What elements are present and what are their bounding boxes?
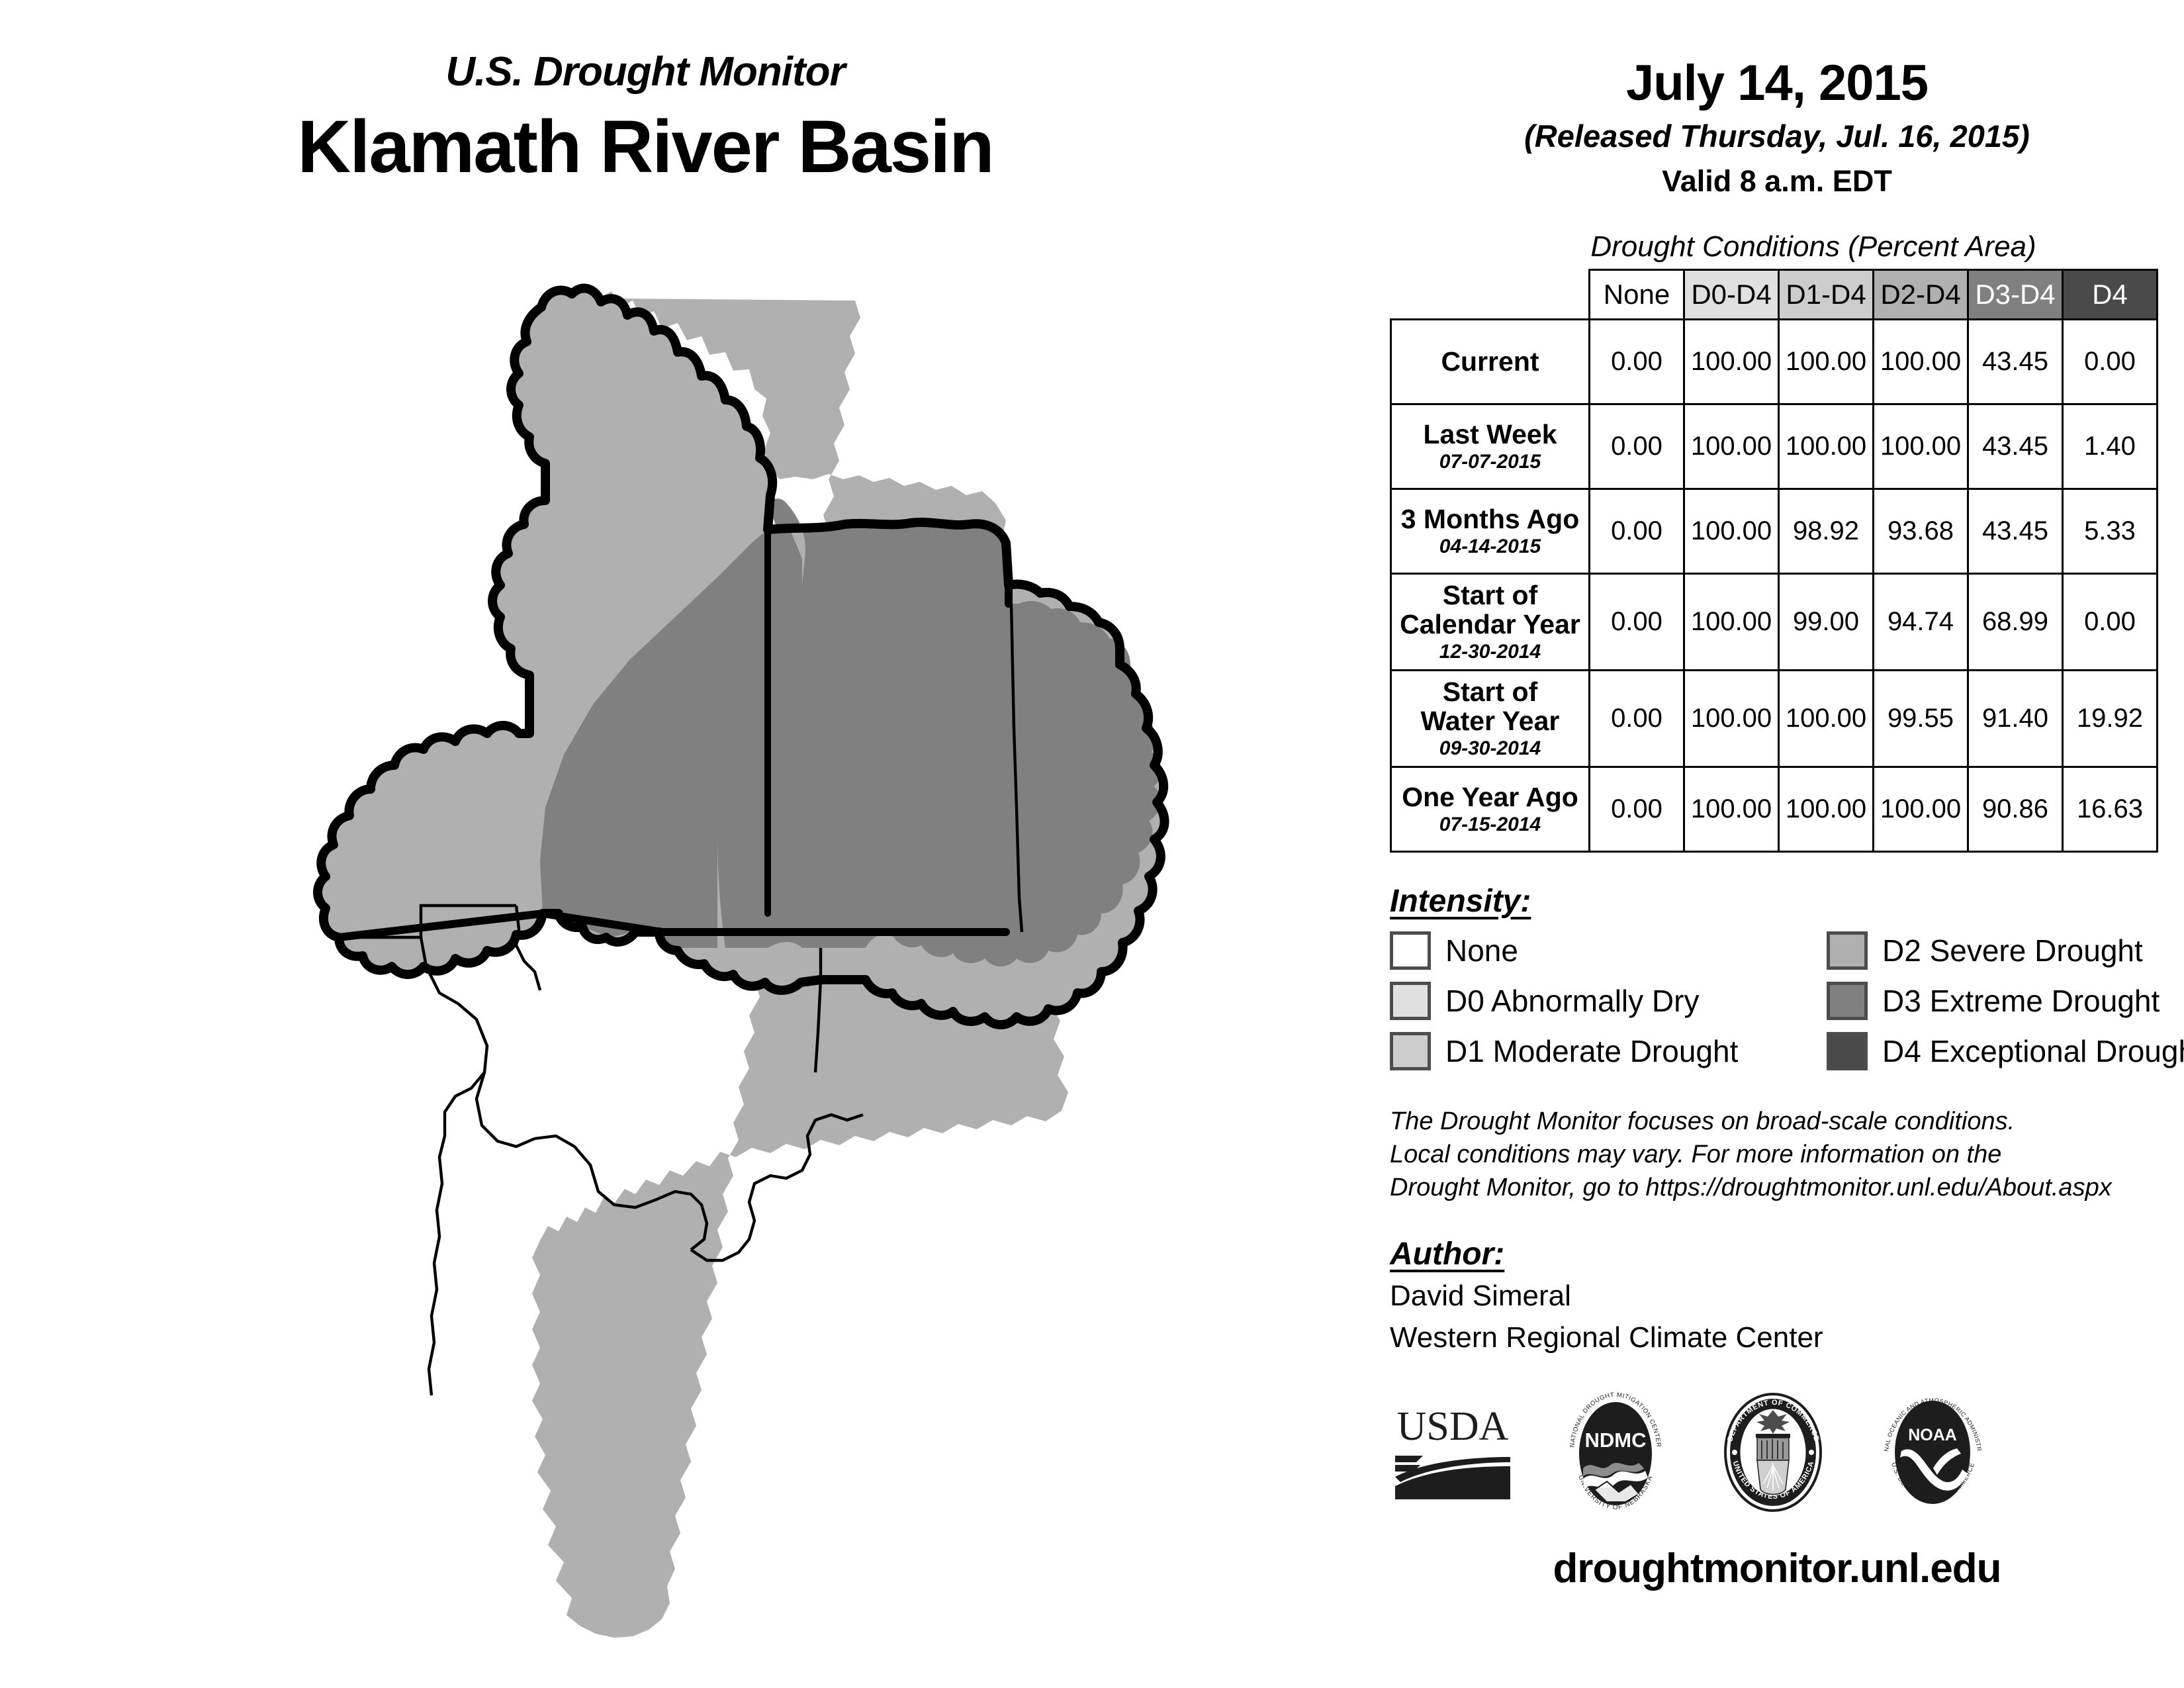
intensity-heading: Intensity: — [1390, 883, 2184, 919]
legend-item-none[interactable]: None — [1390, 931, 1827, 970]
svg-text:NDMC: NDMC — [1585, 1429, 1647, 1452]
legend-item-d0[interactable]: D0 Abnormally Dry — [1390, 982, 1827, 1020]
noaa-logo-icon: NATIONAL OCEANIC AND ATMOSPHERIC ADMINIS… — [1875, 1390, 1991, 1513]
klamath-river-basin-drought-map[interactable] — [79, 278, 1324, 1642]
row-label-date: 07-15-2014 — [1392, 814, 1588, 835]
legend-label-d2: D2 Severe Drought — [1882, 935, 2143, 966]
table-corner-cell — [1391, 270, 1590, 320]
column-header-none: None — [1590, 270, 1684, 320]
disclaimer-line-1: The Drought Monitor focuses on broad-sca… — [1390, 1105, 2184, 1138]
cell-start-water-year-d2d4: 99.55 — [1874, 671, 1968, 767]
legend-label-d3: D3 Extreme Drought — [1882, 986, 2160, 1016]
cell-start-water-year-none: 0.00 — [1590, 671, 1684, 767]
table-header-row: None D0-D4 D1-D4 D2-D4 D3-D4 D4 — [1391, 270, 2158, 320]
map-date: July 14, 2015 — [1370, 58, 2184, 109]
cell-start-water-year-d0d4: 100.00 — [1684, 671, 1779, 767]
row-label-last-week: Last Week 07-07-2015 — [1391, 404, 1590, 489]
column-header-d3d4: D3-D4 — [1968, 270, 2063, 320]
legend-item-d2[interactable]: D2 Severe Drought — [1827, 931, 2184, 970]
swatch-d2-icon — [1827, 931, 1868, 970]
noaa-logo[interactable]: NATIONAL OCEANIC AND ATMOSPHERIC ADMINIS… — [1875, 1390, 1991, 1516]
row-label-text: One Year Ago — [1392, 783, 1588, 812]
cell-one-year-ago-d0d4: 100.00 — [1684, 767, 1779, 852]
disclaimer-line-3[interactable]: Drought Monitor, go to https://droughtmo… — [1390, 1171, 2184, 1204]
cell-current-d2d4: 100.00 — [1874, 320, 1968, 404]
site-url[interactable]: droughtmonitor.unl.edu — [1370, 1545, 2184, 1592]
date-block: July 14, 2015 (Released Thursday, Jul. 1… — [1370, 0, 2184, 196]
legend-item-d4[interactable]: D4 Exceptional Drought — [1827, 1032, 2184, 1070]
column-header-d4: D4 — [2063, 270, 2158, 320]
cell-last-week-d3d4: 43.45 — [1968, 404, 2063, 489]
cell-start-calendar-year-d0d4: 100.00 — [1684, 574, 1779, 671]
release-date: (Released Thursday, Jul. 16, 2015) — [1370, 120, 2184, 152]
disclaimer-line-2: Local conditions may vary. For more info… — [1390, 1138, 2184, 1171]
swatch-none-icon — [1390, 931, 1431, 970]
region-title: Klamath River Basin — [0, 107, 1291, 187]
cell-one-year-ago-d3d4: 90.86 — [1968, 767, 2063, 852]
cell-last-week-none: 0.00 — [1590, 404, 1684, 489]
valid-time: Valid 8 a.m. EDT — [1370, 166, 2184, 196]
author-affiliation: Western Regional Climate Center — [1390, 1319, 2184, 1356]
ndmc-logo[interactable]: NATIONAL DROUGHT MITIGATION CENTER UNIVE… — [1559, 1390, 1672, 1516]
legend-label-none: None — [1445, 935, 1518, 966]
legend-item-d3[interactable]: D3 Extreme Drought — [1827, 982, 2184, 1020]
author-name: David Simeral — [1390, 1278, 2184, 1314]
cell-start-calendar-year-d4: 0.00 — [2063, 574, 2158, 671]
cell-3-months-ago-d4: 5.33 — [2063, 489, 2158, 574]
cell-3-months-ago-d0d4: 100.00 — [1684, 489, 1779, 574]
row-label-one-year-ago: One Year Ago 07-15-2014 — [1391, 767, 1590, 852]
cell-start-calendar-year-d1d4: 99.00 — [1779, 574, 1874, 671]
cell-current-none: 0.00 — [1590, 320, 1684, 404]
svg-text:USDA: USDA — [1397, 1404, 1509, 1449]
cell-3-months-ago-d2d4: 93.68 — [1874, 489, 1968, 574]
table-row: Last Week 07-07-2015 0.00 100.00 100.00 … — [1391, 404, 2158, 489]
disclaimer-text: The Drought Monitor focuses on broad-sca… — [1390, 1105, 2184, 1204]
table-row: 3 Months Ago 04-14-2015 0.00 100.00 98.9… — [1391, 489, 2158, 574]
row-label-text: 3 Months Ago — [1392, 505, 1588, 534]
cell-3-months-ago-none: 0.00 — [1590, 489, 1684, 574]
title-block: U.S. Drought Monitor Klamath River Basin — [0, 52, 1291, 187]
row-label-start-of-calendar-year: Start ofCalendar Year 12-30-2014 — [1391, 574, 1590, 671]
usda-logo[interactable]: USDA — [1390, 1399, 1516, 1508]
table-caption: Drought Conditions (Percent Area) — [1370, 230, 2184, 263]
legend-label-d0: D0 Abnormally Dry — [1445, 986, 1699, 1016]
swatch-d4-icon — [1827, 1032, 1868, 1070]
cell-one-year-ago-d2d4: 100.00 — [1874, 767, 1968, 852]
column-header-d1d4: D1-D4 — [1779, 270, 1874, 320]
legend-item-d1[interactable]: D1 Moderate Drought — [1390, 1032, 1827, 1070]
map-svg — [79, 278, 1324, 1642]
cell-start-water-year-d4: 19.92 — [2063, 671, 2158, 767]
cell-one-year-ago-d1d4: 100.00 — [1779, 767, 1874, 852]
logo-strip: USDA NATIONAL DROUGHT MITIGATION C — [1390, 1390, 2184, 1516]
row-label-text: Start ofWater Year — [1392, 678, 1588, 735]
cell-start-calendar-year-d2d4: 94.74 — [1874, 574, 1968, 671]
row-label-text: Last Week — [1392, 420, 1588, 449]
legend-grid: None D2 Severe Drought D0 Abnormally Dry… — [1390, 931, 2184, 1070]
row-label-current: Current — [1391, 320, 1590, 404]
drought-conditions-table: None D0-D4 D1-D4 D2-D4 D3-D4 D4 Current … — [1390, 269, 2158, 853]
cell-start-calendar-year-none: 0.00 — [1590, 574, 1684, 671]
row-label-3-months-ago: 3 Months Ago 04-14-2015 — [1391, 489, 1590, 574]
legend-label-d4: D4 Exceptional Drought — [1882, 1036, 2184, 1066]
row-label-date: 04-14-2015 — [1392, 536, 1588, 557]
cell-start-water-year-d3d4: 91.40 — [1968, 671, 2063, 767]
cell-start-calendar-year-d3d4: 68.99 — [1968, 574, 2063, 671]
row-label-text: Start ofCalendar Year — [1392, 581, 1588, 638]
row-label-date: 12-30-2014 — [1392, 641, 1588, 663]
swatch-d1-icon — [1390, 1032, 1431, 1070]
cell-3-months-ago-d1d4: 98.92 — [1779, 489, 1874, 574]
program-title: U.S. Drought Monitor — [0, 52, 1291, 93]
cell-last-week-d4: 1.40 — [2063, 404, 2158, 489]
cell-start-water-year-d1d4: 100.00 — [1779, 671, 1874, 767]
svg-text:NOAA: NOAA — [1908, 1426, 1957, 1444]
cell-current-d1d4: 100.00 — [1779, 320, 1874, 404]
table-row: Start ofWater Year 09-30-2014 0.00 100.0… — [1391, 671, 2158, 767]
doc-seal-icon: DEPARTMENT OF COMMERCE UNITED STATES OF … — [1715, 1390, 1831, 1513]
author-heading: Author: — [1390, 1236, 2184, 1272]
table-row: Current 0.00 100.00 100.00 100.00 43.45 … — [1391, 320, 2158, 404]
department-of-commerce-seal[interactable]: DEPARTMENT OF COMMERCE UNITED STATES OF … — [1715, 1390, 1831, 1516]
legend-label-d1: D1 Moderate Drought — [1445, 1036, 1738, 1066]
cell-last-week-d0d4: 100.00 — [1684, 404, 1779, 489]
usda-logo-icon: USDA — [1390, 1399, 1516, 1505]
cell-one-year-ago-none: 0.00 — [1590, 767, 1684, 852]
row-label-text: Current — [1392, 348, 1588, 376]
author-block: Author: David Simeral Western Regional C… — [1390, 1236, 2184, 1356]
row-label-start-of-water-year: Start ofWater Year 09-30-2014 — [1391, 671, 1590, 767]
cell-3-months-ago-d3d4: 43.45 — [1968, 489, 2063, 574]
cell-current-d4: 0.00 — [2063, 320, 2158, 404]
table-row: Start ofCalendar Year 12-30-2014 0.00 10… — [1391, 574, 2158, 671]
cell-current-d3d4: 43.45 — [1968, 320, 2063, 404]
swatch-d0-icon — [1390, 982, 1431, 1020]
cell-current-d0d4: 100.00 — [1684, 320, 1779, 404]
intensity-legend: Intensity: None D2 Severe Drought D0 Abn… — [1390, 883, 2184, 1070]
table-row: One Year Ago 07-15-2014 0.00 100.00 100.… — [1391, 767, 2158, 852]
swatch-d3-icon — [1827, 982, 1868, 1020]
column-header-d2d4: D2-D4 — [1874, 270, 1968, 320]
column-header-d0d4: D0-D4 — [1684, 270, 1779, 320]
cell-one-year-ago-d4: 16.63 — [2063, 767, 2158, 852]
row-label-date: 09-30-2014 — [1392, 737, 1588, 759]
row-label-date: 07-07-2015 — [1392, 451, 1588, 473]
right-panel: July 14, 2015 (Released Thursday, Jul. 1… — [1370, 0, 2184, 1688]
cell-last-week-d1d4: 100.00 — [1779, 404, 1874, 489]
cell-last-week-d2d4: 100.00 — [1874, 404, 1968, 489]
ndmc-logo-icon: NATIONAL DROUGHT MITIGATION CENTER UNIVE… — [1559, 1390, 1672, 1513]
drought-monitor-page: U.S. Drought Monitor Klamath River Basin — [0, 0, 2184, 1688]
